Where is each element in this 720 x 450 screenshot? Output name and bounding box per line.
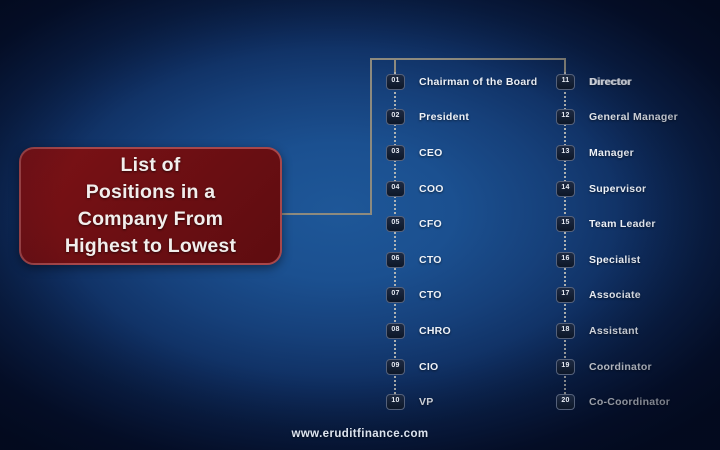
list-item: 13Manager (556, 135, 720, 171)
item-label: Manager (589, 147, 634, 159)
connector-vertical-riser (370, 58, 372, 215)
connector-horizontal-top (370, 58, 566, 60)
item-label: President (419, 111, 469, 123)
item-number-badge: 07 (386, 287, 405, 303)
list-item: 11Director (556, 64, 720, 100)
item-number-badge: 09 (386, 359, 405, 375)
item-label: Coordinator (589, 361, 652, 373)
item-number-badge: 02 (386, 109, 405, 125)
item-number-badge: 01 (386, 74, 405, 90)
item-number-badge: 16 (556, 252, 575, 268)
item-number-badge: 18 (556, 323, 575, 339)
item-number-badge: 10 (386, 394, 405, 410)
item-label: Chairman of the Board (419, 76, 537, 88)
item-label: CIO (419, 361, 438, 373)
item-number-badge: 08 (386, 323, 405, 339)
list-item: 18Assistant (556, 313, 720, 349)
item-number-badge: 11 (556, 74, 575, 90)
item-label: CFO (419, 218, 442, 230)
item-number-badge: 05 (386, 216, 405, 232)
list-item: 17Associate (556, 278, 720, 314)
item-label: CHRO (419, 325, 451, 337)
title-callout-text: List of Positions in a Company From High… (65, 152, 236, 260)
right-column: 11Director12General Manager13Manager14Su… (556, 64, 720, 420)
item-number-badge: 17 (556, 287, 575, 303)
item-label: CTO (419, 289, 442, 301)
connector-horizontal-lower (282, 213, 372, 215)
item-label: Specialist (589, 254, 641, 266)
item-label: Co-Coordinator (589, 396, 670, 408)
list-item: 12General Manager (556, 100, 720, 136)
item-number-badge: 14 (556, 181, 575, 197)
item-number-badge: 19 (556, 359, 575, 375)
item-label: Director (589, 76, 631, 88)
item-label: Supervisor (589, 183, 646, 195)
item-label: Assistant (589, 325, 639, 337)
footer-url: www.eruditfinance.com (0, 428, 720, 440)
item-number-badge: 06 (386, 252, 405, 268)
list-item: 15Team Leader (556, 206, 720, 242)
item-number-badge: 12 (556, 109, 575, 125)
item-label: COO (419, 183, 444, 195)
list-item: 16Specialist (556, 242, 720, 278)
item-label: CEO (419, 147, 443, 159)
list-item: 14Supervisor (556, 171, 720, 207)
item-number-badge: 20 (556, 394, 575, 410)
item-label: VP (419, 396, 434, 408)
item-label: Associate (589, 289, 641, 301)
item-label: Team Leader (589, 218, 656, 230)
list-item: 20Co-Coordinator (556, 384, 720, 420)
item-number-badge: 04 (386, 181, 405, 197)
item-number-badge: 13 (556, 145, 575, 161)
item-label: General Manager (589, 111, 678, 123)
list-item: 19Coordinator (556, 349, 720, 385)
slide-canvas: List of Positions in a Company From High… (0, 0, 720, 450)
item-label: CTO (419, 254, 442, 266)
item-number-badge: 15 (556, 216, 575, 232)
item-number-badge: 03 (386, 145, 405, 161)
title-callout-box: List of Positions in a Company From High… (19, 147, 282, 265)
